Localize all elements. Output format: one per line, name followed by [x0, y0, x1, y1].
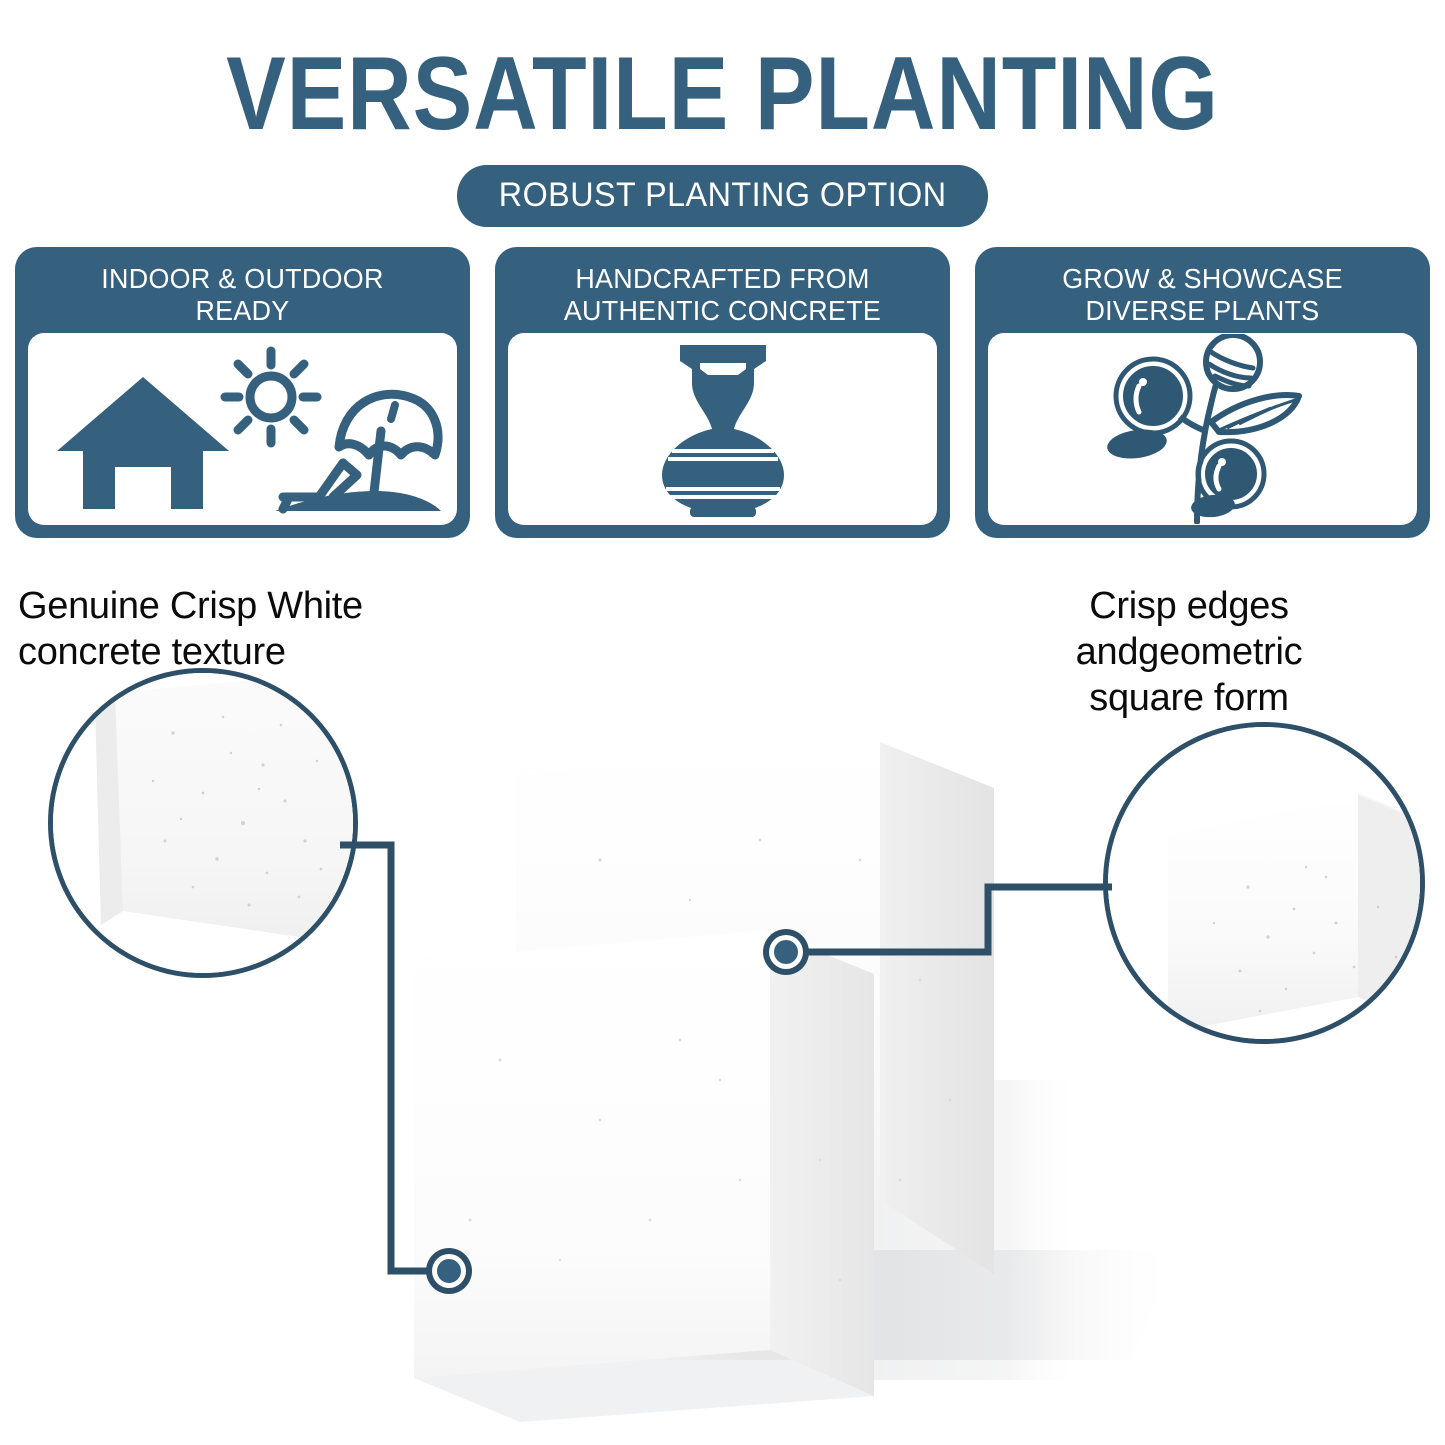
beach-umbrella-icon [339, 394, 438, 501]
badge-row: ROBUST PLANTING OPTION [0, 165, 1445, 227]
feature-box-grow-showcase-title: GROW & SHOWCASE DIVERSE PLANTS [997, 261, 1409, 333]
feature-box-indoor-outdoor-panel [28, 333, 457, 525]
indoor-outdoor-icon-group [43, 339, 443, 519]
vase-icon [628, 339, 818, 519]
robust-planting-badge: ROBUST PLANTING OPTION [457, 165, 988, 227]
small-planter [414, 930, 874, 1422]
feature-box-handcrafted: HANDCRAFTED FROM AUTHENTIC CONCRETE [495, 247, 950, 538]
planter-rim-corner-closeup [1108, 727, 1420, 1039]
feature-box-handcrafted-title: HANDCRAFTED FROM AUTHENTIC CONCRETE [517, 261, 929, 333]
sun-icon [225, 351, 317, 443]
striped-berry [1206, 335, 1260, 389]
callout-label-edges: Crisp edges andgeometric square form [999, 583, 1379, 721]
leaf-right [1211, 395, 1299, 432]
solid-berry-left [1116, 359, 1190, 433]
infographic-page: VERSATILE PLANTING ROBUST PLANTING OPTIO… [0, 0, 1445, 1445]
zoom-circle-concrete-texture [48, 668, 358, 978]
concrete-texture-closeup [53, 673, 353, 973]
feature-box-indoor-outdoor: INDOOR & OUTDOOR READY [15, 247, 470, 538]
feature-box-handcrafted-panel [508, 333, 937, 525]
house-icon [57, 377, 229, 509]
berry-sprig-icon [1093, 334, 1313, 524]
zoom-circle-crisp-edges [1103, 722, 1425, 1044]
feature-box-grow-showcase: GROW & SHOWCASE DIVERSE PLANTS [975, 247, 1430, 538]
feature-box-grow-showcase-panel [988, 333, 1417, 525]
feature-box-indoor-outdoor-title: INDOOR & OUTDOOR READY [37, 261, 449, 333]
callout-label-texture: Genuine Crisp White concrete texture [18, 583, 438, 675]
page-title: VERSATILE PLANTING [101, 38, 1344, 150]
feature-box-row: INDOOR & OUTDOOR READY [15, 247, 1430, 538]
